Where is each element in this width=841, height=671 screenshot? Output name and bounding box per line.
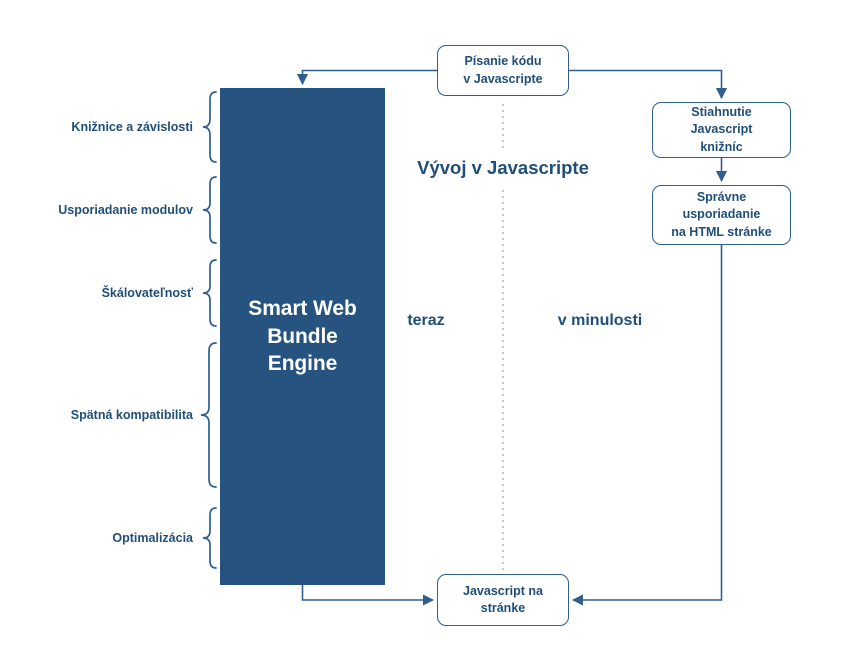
feature-label-usporiadanie-modulov: Usporiadanie modulov [0, 203, 193, 217]
feature-label-optimalizacia: Optimalizácia [0, 531, 193, 545]
diagram-canvas: Smart Web Bundle Engine Knižnice a závis… [0, 0, 841, 671]
column-label-teraz: teraz [407, 312, 444, 330]
brace-kompatibilita [201, 343, 216, 487]
engine-label: Smart Web Bundle Engine [248, 295, 356, 378]
wire-pisanie-to-engine [303, 71, 438, 85]
smart-web-bundle-engine-box[interactable]: Smart Web Bundle Engine [220, 88, 385, 585]
diagram-center-title: Vývoj v Javascripte [417, 157, 589, 179]
feature-label-spatna-kompatibilita: Spätná kompatibilita [0, 408, 193, 422]
node-pisanie-kodu[interactable]: Písanie kódu v Javascripte [437, 45, 569, 96]
wire-pisanie-to-stiahnutie [569, 71, 722, 99]
wire-spravne-to-jsstranke [573, 245, 722, 600]
connector-layer [0, 0, 841, 671]
brace-usporiadanie [203, 177, 216, 243]
feature-label-skalovatelnost: Škálovateľnosť [0, 286, 193, 300]
feature-label-kniznice: Knižnice a závislosti [0, 120, 193, 134]
brace-kniznice [203, 92, 216, 162]
brace-optimalizacia [203, 508, 216, 568]
column-label-v-minulosti: v minulosti [558, 312, 642, 330]
wire-engine-to-jsstranke [303, 585, 434, 600]
node-spravne-usporiadanie-na-html-stranke[interactable]: Správne usporiadanie na HTML stránke [652, 185, 791, 245]
brace-skalovatelnost [203, 260, 216, 326]
node-javascript-na-stranke[interactable]: Javascript na stránke [437, 574, 569, 626]
node-stiahnutie-javascript-kniznic[interactable]: Stiahnutie Javascript knižníc [652, 102, 791, 158]
